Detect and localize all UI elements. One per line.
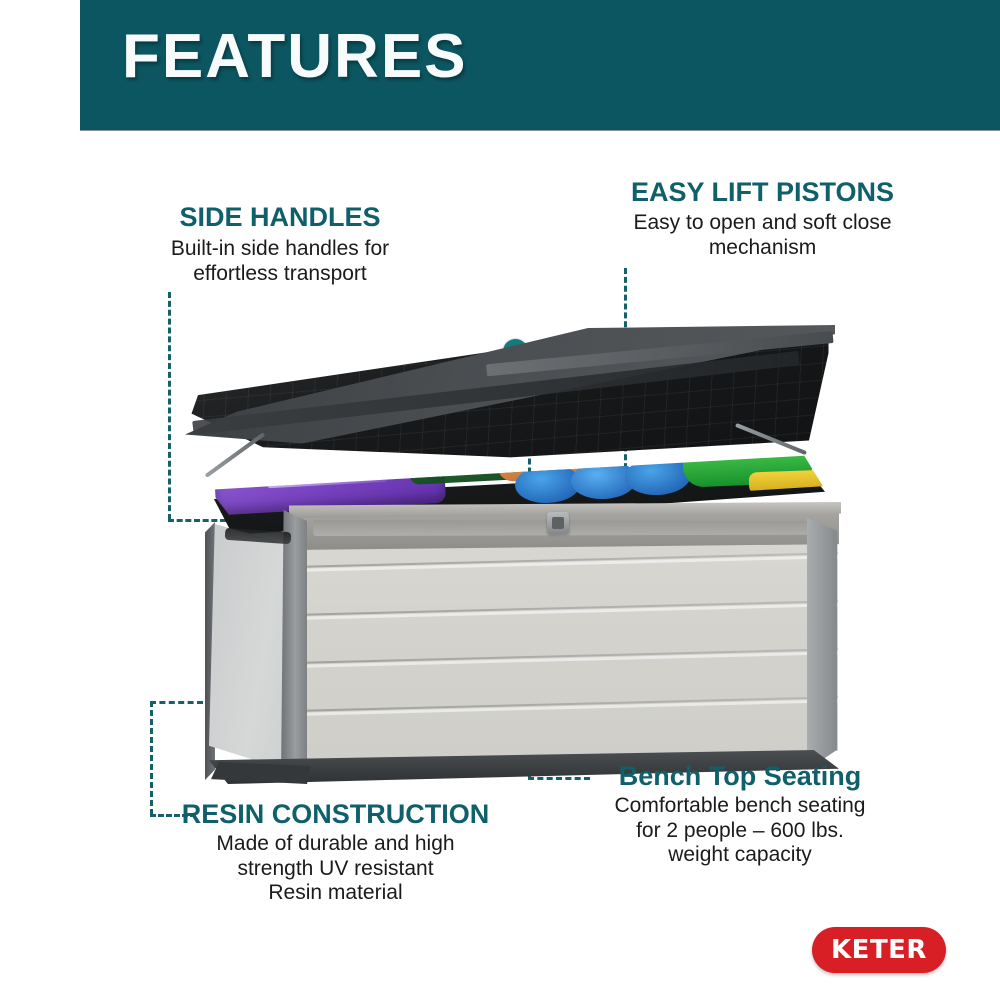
keter-logo: KETER xyxy=(812,927,946,973)
callout-body-line: Made of durable and high xyxy=(148,832,523,857)
body-front-panel xyxy=(293,514,838,766)
header-underline xyxy=(80,129,1000,131)
body-corner-post-right xyxy=(807,518,837,770)
callout-body-line: effortless transport xyxy=(110,262,450,287)
callout-body-line: mechanism xyxy=(590,236,935,261)
callout-body-line: weight capacity xyxy=(570,843,910,868)
connector-resin-vertical xyxy=(150,701,153,815)
connector-side-handles-vertical xyxy=(168,292,171,520)
lid-latch-inner xyxy=(552,517,564,529)
deck-box-illustration xyxy=(185,325,835,785)
callout-easy-lift-pistons: EASY LIFT PISTONS Easy to open and soft … xyxy=(590,178,935,260)
callout-body-resin-construction: Made of durable and high strength UV res… xyxy=(148,832,523,906)
feature-infographic: FEATURES xyxy=(0,0,1000,1000)
callout-title-easy-lift-pistons: EASY LIFT PISTONS xyxy=(590,178,935,207)
callout-side-handles: SIDE HANDLES Built-in side handles for e… xyxy=(110,203,450,286)
callout-body-line: strength UV resistant xyxy=(148,857,523,882)
callout-body-line: Easy to open and soft close xyxy=(590,211,935,236)
callout-title-bench-top-seating: Bench Top Seating xyxy=(570,762,910,791)
keter-logo-text: KETER xyxy=(831,935,927,965)
callout-body-line: for 2 people – 600 lbs. xyxy=(570,819,910,844)
callout-body-line: Comfortable bench seating xyxy=(570,794,910,819)
page-title: FEATURES xyxy=(122,26,468,88)
callout-body-bench-top-seating: Comfortable bench seating for 2 people –… xyxy=(570,794,910,868)
callout-body-line: Resin material xyxy=(148,881,523,906)
callout-body-line: Built-in side handles for xyxy=(110,237,450,262)
callout-bench-top-seating: Bench Top Seating Comfortable bench seat… xyxy=(570,762,910,868)
callout-body-easy-lift-pistons: Easy to open and soft close mechanism xyxy=(590,211,935,260)
callout-title-resin-construction: RESIN CONSTRUCTION xyxy=(148,800,523,829)
callout-body-side-handles: Built-in side handles for effortless tra… xyxy=(110,237,450,286)
callout-resin-construction: RESIN CONSTRUCTION Made of durable and h… xyxy=(148,800,523,906)
body-corner-post-left xyxy=(281,510,307,782)
callout-title-side-handles: SIDE HANDLES xyxy=(110,203,450,232)
gas-piston-left xyxy=(205,432,266,478)
box-body xyxy=(195,500,840,785)
